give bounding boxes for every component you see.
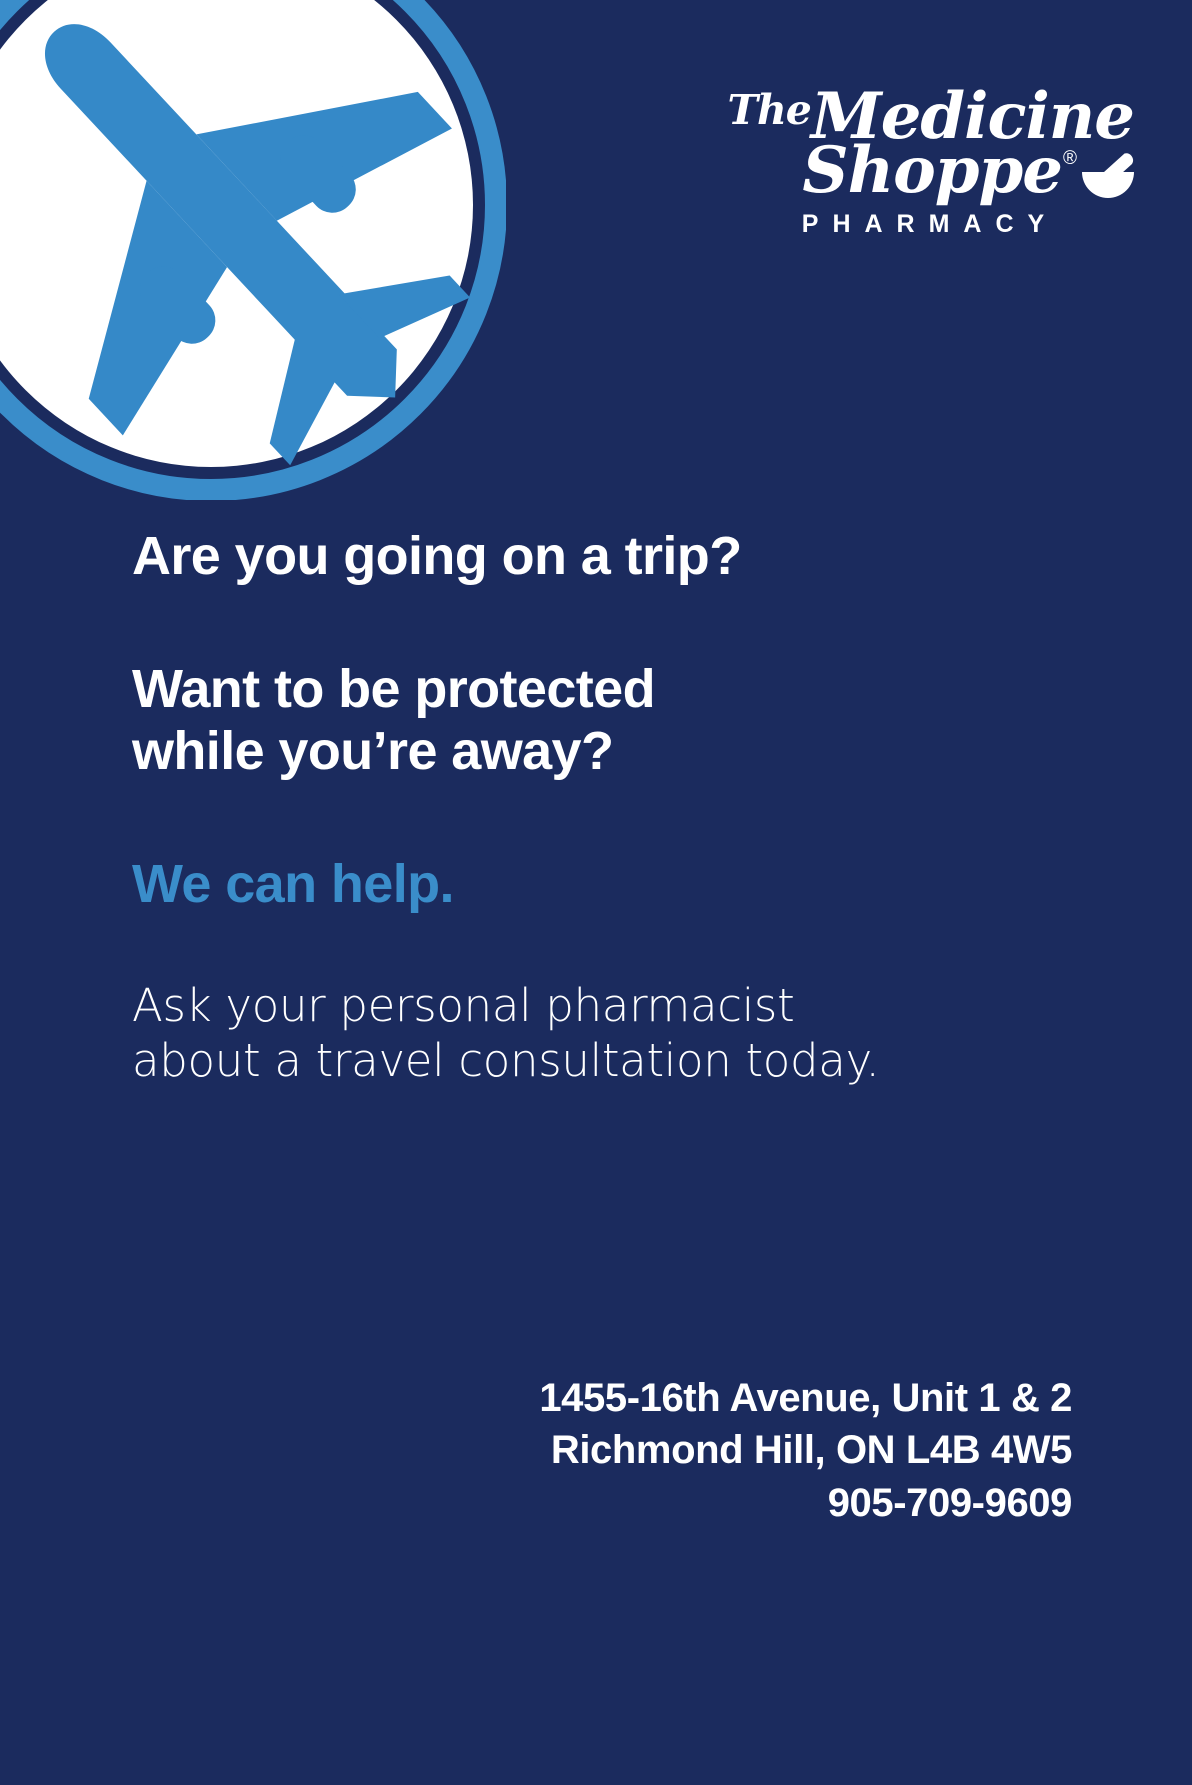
address-city: Richmond Hill, ON L4B 4W5	[539, 1424, 1072, 1477]
address-street: 1455-16th Avenue, Unit 1 & 2	[539, 1372, 1072, 1425]
airplane-icon	[0, 0, 506, 500]
airplane-badge	[0, 0, 506, 500]
brand-word-pharmacy: PHARMACY	[708, 210, 1138, 239]
pharmacy-address-block: 1455-16th Avenue, Unit 1 & 2 Richmond Hi…	[539, 1372, 1072, 1530]
headline-secondary-line-2: while you’re away?	[132, 721, 613, 781]
brand-word-the: The	[727, 86, 810, 134]
brand-logo-line-shoppe: Shoppe®	[708, 141, 1138, 202]
body-copy-line-2: about a travel consultation today.	[132, 1034, 879, 1087]
brand-logo: TheMedicine Shoppe® PHARMACY	[708, 88, 1138, 239]
headline-secondary: Want to be protectedwhile you’re away?	[132, 658, 1072, 783]
travel-consultation-poster: TheMedicine Shoppe® PHARMACY Are you goi…	[0, 0, 1192, 1785]
mortar-and-pestle-icon	[1080, 152, 1136, 198]
brand-word-shoppe: Shoppe	[802, 141, 1062, 202]
poster-copy-block: Are you going on a trip? Want to be prot…	[132, 525, 1072, 1089]
subhead-we-can-help: We can help.	[132, 853, 1072, 916]
body-copy-line-1: Ask your personal pharmacist	[132, 979, 794, 1032]
registered-trademark-icon: ®	[1063, 149, 1077, 168]
address-phone[interactable]: 905-709-9609	[539, 1477, 1072, 1530]
headline-secondary-line-1: Want to be protected	[132, 659, 655, 719]
body-copy: Ask your personal pharmacistabout a trav…	[132, 978, 1072, 1090]
headline-primary: Are you going on a trip?	[132, 525, 1072, 588]
